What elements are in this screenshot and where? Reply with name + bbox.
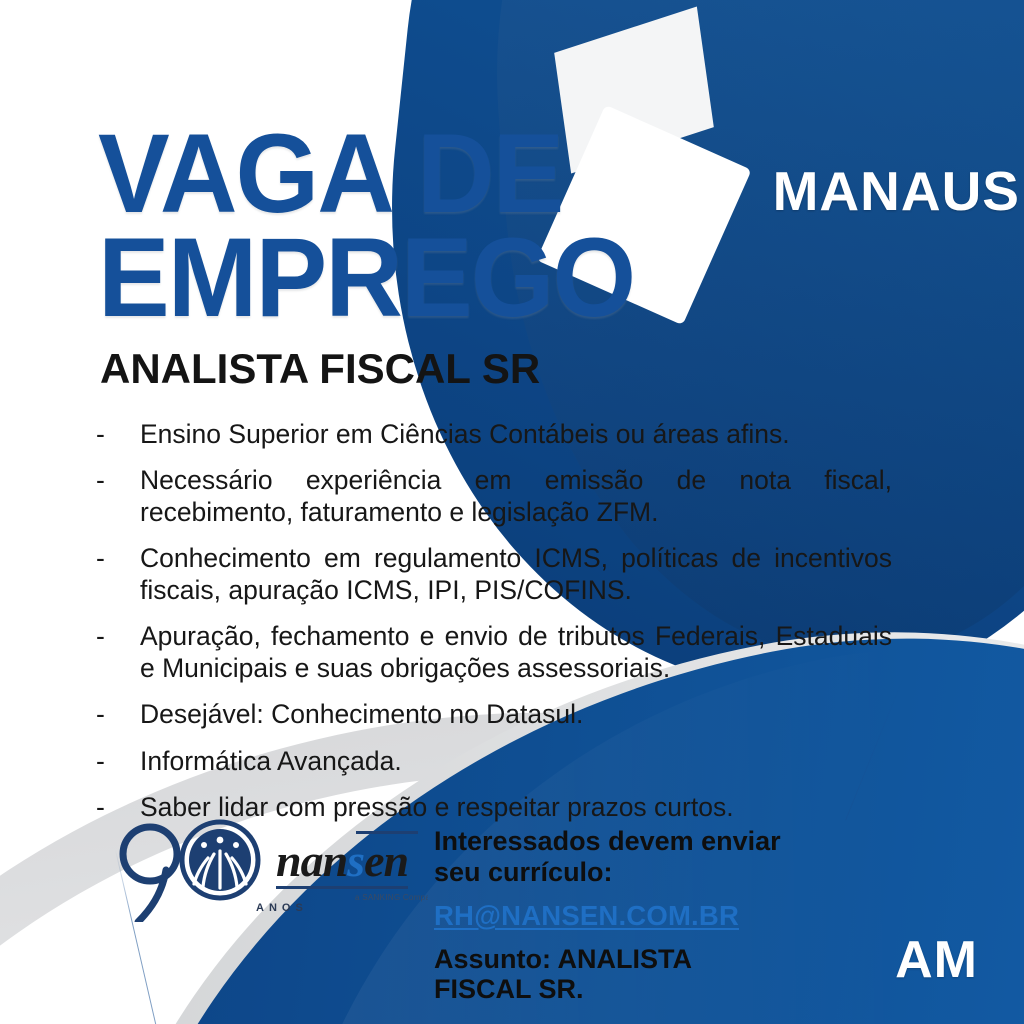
bullet-marker: - — [96, 542, 140, 574]
company-logo: nansen a SANKING Company ANOS — [108, 818, 428, 922]
bullet-marker: - — [96, 464, 140, 496]
state-badge: AM — [895, 934, 978, 986]
requirement-item: -Apuração, fechamento e envio de tributo… — [96, 620, 892, 684]
requirement-text: Ensino Superior em Ciências Contábeis ou… — [140, 418, 892, 450]
bullet-marker: - — [96, 698, 140, 730]
requirements-list: -Ensino Superior em Ciências Contábeis o… — [96, 418, 892, 837]
location-badge: MANAUS — [773, 164, 1020, 219]
requirement-text: Conhecimento em regulamento ICMS, políti… — [140, 542, 892, 606]
logo-anniversary-word: ANOS — [256, 902, 308, 914]
page-title-line-1: VAGA DE — [98, 122, 634, 226]
bullet-marker: - — [96, 418, 140, 450]
page-title: VAGA DE EMPREGO — [98, 122, 634, 330]
contact-subject: Assunto: ANALISTA FISCAL SR. — [434, 944, 854, 1006]
requirement-text: Desejável: Conhecimento no Datasul. — [140, 698, 892, 730]
requirement-item: -Informática Avançada. — [96, 745, 892, 777]
bullet-marker: - — [96, 620, 140, 652]
nansen-wordmark: nansen a SANKING Company — [276, 831, 428, 902]
page-title-line-2: EMPREGO — [98, 226, 634, 330]
logo-tagline: a SANKING Company — [355, 893, 428, 902]
requirement-item: -Necessário experiência em emissão de no… — [96, 464, 892, 528]
requirement-text: Necessário experiência em emissão de not… — [140, 464, 892, 528]
job-title: ANALISTA FISCAL SR — [100, 348, 540, 390]
svg-text:nansen: nansen — [276, 835, 408, 886]
job-posting-poster: MANAUS AM VAGA DE EMPREGO ANALISTA FISCA… — [0, 0, 1024, 1024]
bullet-marker: - — [96, 745, 140, 777]
requirement-text: Informática Avançada. — [140, 745, 892, 777]
contact-block: Interessados devem enviar seu currículo:… — [434, 826, 854, 1005]
requirement-item: -Conhecimento em regulamento ICMS, polít… — [96, 542, 892, 606]
requirement-item: -Desejável: Conhecimento no Datasul. — [96, 698, 892, 730]
contact-call-to-action: Interessados devem enviar seu currículo: — [434, 826, 854, 888]
requirement-text: Apuração, fechamento e envio de tributos… — [140, 620, 892, 684]
requirement-item: -Ensino Superior em Ciências Contábeis o… — [96, 418, 892, 450]
contact-email-link[interactable]: RH@NANSEN.COM.BR — [434, 900, 739, 932]
